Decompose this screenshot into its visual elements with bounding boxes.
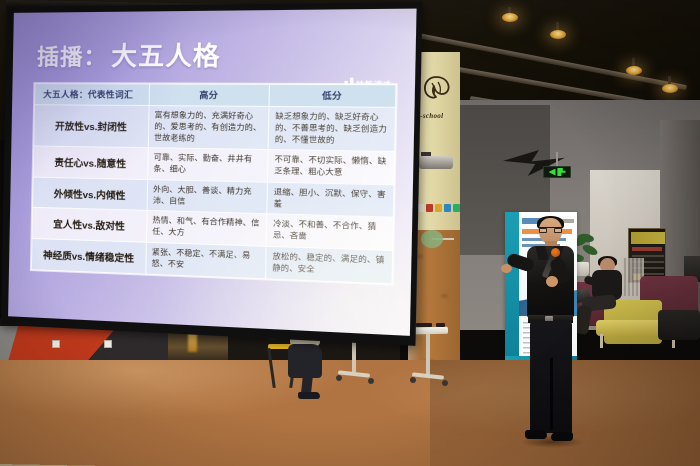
table-row: 开放性vs.封闭性 富有想象力的、充满好奇心的、爱思考的、有创造力的、世故老练的… [34,105,396,152]
projector-screen[interactable]: 插播：大五人格 技能速才 小规模开放式在线课堂 [1,2,423,346]
desk-leg [426,334,430,374]
pillar-light-fixture [419,156,453,169]
dark-jacket-on-sofa [658,310,700,340]
wall-socket [52,340,60,348]
hand-right [546,276,558,287]
sticker [426,204,433,212]
table-header-low: 低分 [269,84,396,107]
desk-caster [410,377,416,383]
slide-title: 插播：大五人格 [37,36,221,74]
poster-title-band [631,232,665,244]
eyeglasses [539,227,562,232]
table-header-high: 高分 [149,84,270,106]
pillar-logo-label: i-school [418,112,443,120]
trait-label: 神经质vs.情绪稳定性 [31,238,146,273]
low-score-desc: 冷淡、不和善、不合作、猜忌、吝啬 [267,214,394,250]
low-score-desc: 缺乏想象力的、缺乏好奇心的、不善思考的、缺乏创造力的、不懂世故的 [269,106,396,151]
wall-socket [104,340,112,348]
exit-arrow-icon [549,169,556,176]
slide-title-main: 大五人格 [111,42,221,71]
lens-left [539,228,547,233]
chair-leg [267,348,276,388]
table-header-row: 大五人格：代表性词汇 高分 低分 [35,84,397,108]
sticker [435,204,442,212]
track-light [550,30,566,39]
poster-subtitle-band [632,247,662,251]
table-body: 开放性vs.封闭性 富有想象力的、充满好奇心的、爱思考的、有创造力的、世故老练的… [31,105,395,284]
slide-title-prefix: 插播： [37,45,108,71]
high-score-desc: 热情、和气、有合作精神、信任、大方 [146,211,267,246]
track-light [662,84,678,93]
high-score-desc: 可靠、实际、勤奋、井井有条、细心 [148,148,269,182]
running-person-icon [557,168,566,176]
desk-object [436,323,445,327]
track-light [502,13,518,22]
trait-label: 外倾性vs.内倾性 [33,177,148,211]
desk-caster [368,378,374,384]
track-light [626,66,642,75]
sticker [444,204,451,212]
desk-caster [442,380,448,386]
shoe [298,392,320,399]
screen-frame: 插播：大五人格 技能速才 小规模开放式在线课堂 [1,2,423,346]
hand-left [501,264,512,273]
big-five-table: 大五人格：代表性词汇 高分 低分 开放性vs.封闭性 富有想象力的、充满好奇心的… [31,83,397,284]
audience-member [586,258,630,340]
table-header-trait: 大五人格：代表性词汇 [35,84,150,106]
table-header: 大五人格：代表性词汇 高分 低分 [35,84,397,108]
trait-label: 责任心vs.随意性 [33,146,148,179]
high-score-desc: 紧张、不稳定、不满足、易怒、不安 [146,242,267,278]
presenter [515,218,585,448]
high-score-desc: 外向、大胆、善谈、精力充沛、自信 [147,179,268,214]
high-score-desc: 富有想象力的、充满好奇心的、爱思考的、有创造力的、世故老练的 [148,106,269,150]
desk-phone [416,323,432,327]
pillar-sticker-row [417,204,460,212]
lens-right [554,228,562,233]
sticker [453,204,460,212]
exit-sign [543,166,571,178]
low-score-desc: 放松的、稳定的、满足的、镇静的、安全 [266,246,393,283]
shoe-right [551,432,573,441]
trait-label: 开放性vs.封闭性 [34,105,149,148]
low-score-desc: 退缩、胆小、沉默、保守、害羞 [267,182,394,218]
desk-caster [336,375,342,381]
trouser-gap [550,358,553,430]
microphone-windscreen [551,248,560,257]
trait-label: 宜人性vs.敌对性 [32,208,147,243]
presentation-slide: 插播：大五人格 技能速才 小规模开放式在线课堂 [8,9,417,336]
photo-scene: i-school [0,0,700,466]
low-score-desc: 不可靠、不切实际、懒惰、缺乏条理、粗心大意 [268,150,395,185]
pillar-green-disc [421,230,443,248]
shoe-left [525,430,547,439]
